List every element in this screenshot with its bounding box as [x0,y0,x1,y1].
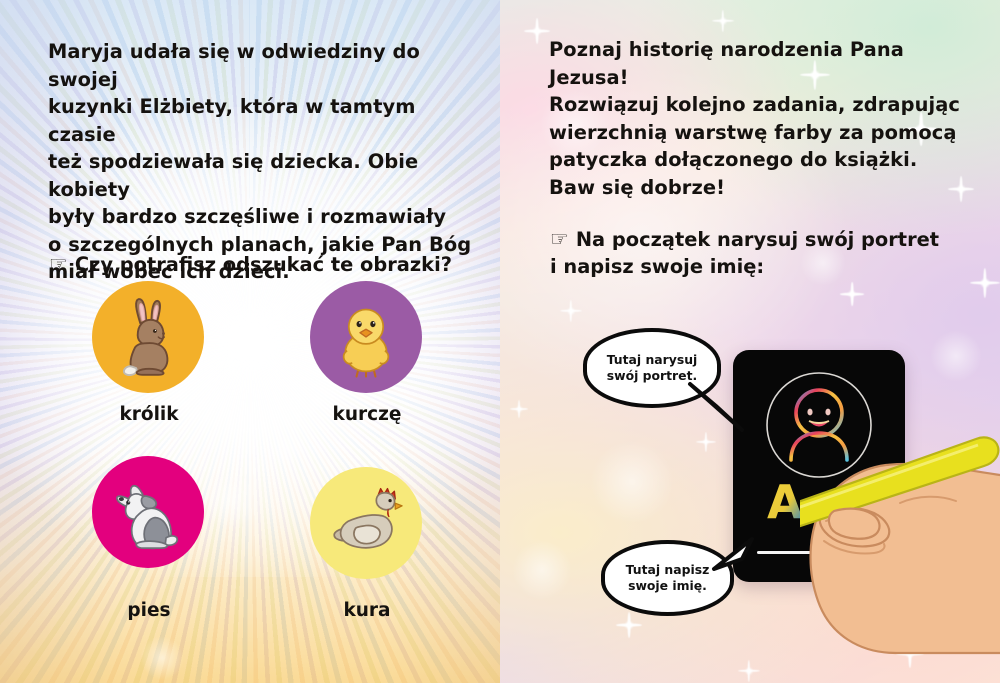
bokeh-dot [200,470,260,530]
bokeh-dot [236,318,288,370]
animal-circle-hen[interactable] [310,467,422,579]
bokeh-dot [140,636,184,680]
left-page: Maryja udała się w odwiedziny do swojej … [0,0,500,683]
right-page-prompt: ☞Na początek narysuj swój portret i napi… [550,198,980,281]
dog-icon [105,469,191,555]
right-prompt-text: Na początek narysuj swój portret i napis… [550,228,939,279]
bubble-portrait-text: Tutaj narysuj swój portret. [607,352,698,384]
bokeh-dot [512,540,572,600]
animal-label-dog: pies [69,600,229,621]
rabbit-icon [105,294,191,380]
bubble-name-tail [708,535,764,581]
written-letter: A [767,475,803,529]
animal-circle-dog[interactable] [92,456,204,568]
animal-circle-rabbit[interactable] [92,281,204,393]
left-prompt-text: Czy potrafisz odszukać te obrazki? [75,253,452,276]
animal-circle-chick[interactable] [310,281,422,393]
left-page-prompt: ☞Czy potrafisz odszukać te obrazki? [49,223,469,278]
bokeh-dot [930,330,982,382]
right-page-paragraph: Poznaj historię narodzenia Pana Jezusa! … [549,36,979,201]
bubble-portrait-tail [686,378,750,438]
bubble-name-text: Tutaj napisz swoje imię. [626,562,710,594]
animal-label-hen: kura [287,600,447,621]
index-finger-tip [829,509,880,539]
book-spread: Maryja udała się w odwiedziny do swojej … [0,0,1000,683]
hand-holding-stick-icon [800,395,1000,650]
pointing-hand-icon: ☞ [550,226,569,254]
bokeh-dot [590,440,674,524]
animal-label-rabbit: królik [69,404,229,425]
bokeh-dot [268,430,306,468]
hen-icon [323,480,409,566]
pointing-hand-icon: ☞ [49,251,68,279]
animal-label-chick: kurczę [287,404,447,425]
chick-icon [323,294,409,380]
